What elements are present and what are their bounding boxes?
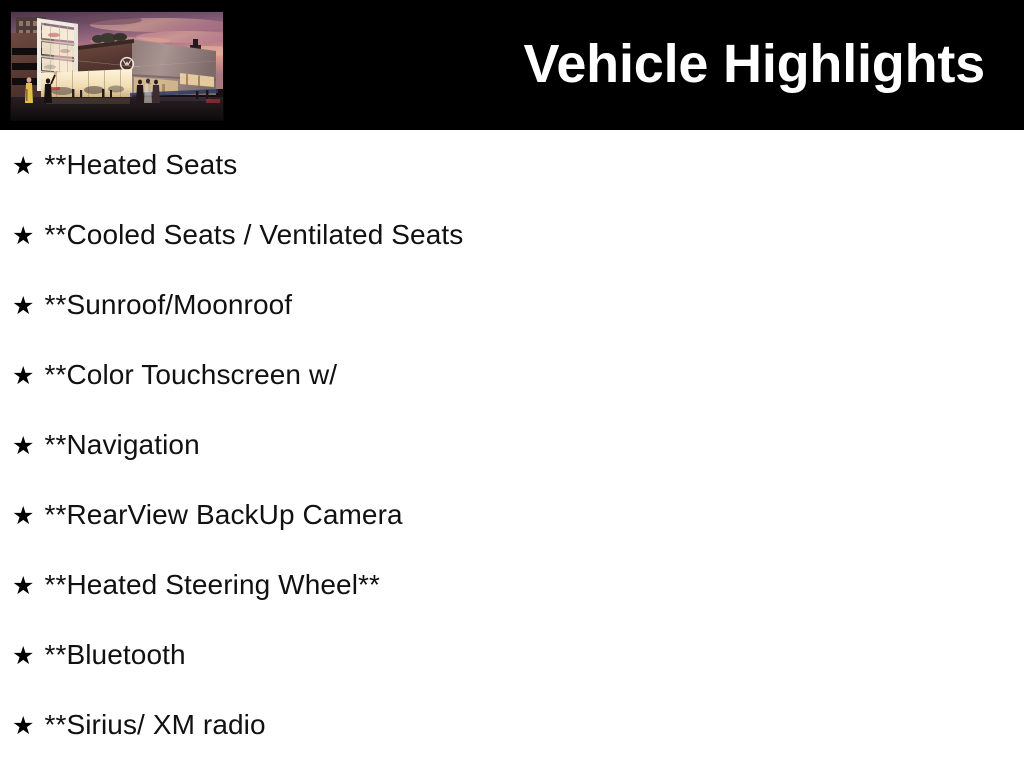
- slide-header: Vehicle Highlights: [0, 0, 1024, 130]
- list-item: ★ **Cooled Seats / Ventilated Seats: [0, 200, 1024, 270]
- star-icon: ★: [12, 551, 40, 621]
- list-item: ★ **Sirius/ XM radio: [0, 690, 1024, 760]
- list-item-label: **Cooled Seats / Ventilated Seats: [44, 200, 463, 270]
- list-item-label: **Sunroof/Moonroof: [44, 270, 292, 340]
- list-item-label: **Sirius/ XM radio: [44, 690, 265, 760]
- star-icon: ★: [12, 481, 40, 551]
- star-icon: ★: [12, 691, 40, 761]
- list-item: ★ **Color Touchscreen w/: [0, 340, 1024, 410]
- list-item-label: **Navigation: [44, 410, 199, 480]
- star-icon: ★: [12, 621, 40, 691]
- list-item: ★ **RearView BackUp Camera: [0, 480, 1024, 550]
- vehicle-highlights-list: ★ **Heated Seats ★ **Cooled Seats / Vent…: [0, 130, 1024, 768]
- star-icon: ★: [12, 341, 40, 411]
- list-item-label: **Bluetooth: [44, 620, 185, 690]
- star-icon: ★: [12, 271, 40, 341]
- list-item: ★ **Navigation: [0, 410, 1024, 480]
- list-item-label: **Heated Steering Wheel**: [44, 550, 380, 620]
- star-icon: ★: [12, 131, 40, 201]
- page-title: Vehicle Highlights: [285, 28, 985, 100]
- list-item-label: **RearView BackUp Camera: [44, 480, 402, 550]
- list-item: ★ **Heated Steering Wheel**: [0, 550, 1024, 620]
- dealership-photo: [10, 11, 224, 121]
- list-item-label: **Heated Seats: [44, 130, 237, 200]
- star-icon: ★: [12, 201, 40, 271]
- list-item: ★ **Bluetooth: [0, 620, 1024, 690]
- list-item: ★ **Sunroof/Moonroof: [0, 270, 1024, 340]
- star-icon: ★: [12, 411, 40, 481]
- list-item-label: **Color Touchscreen w/: [44, 340, 337, 410]
- list-item: ★ **Heated Seats: [0, 130, 1024, 200]
